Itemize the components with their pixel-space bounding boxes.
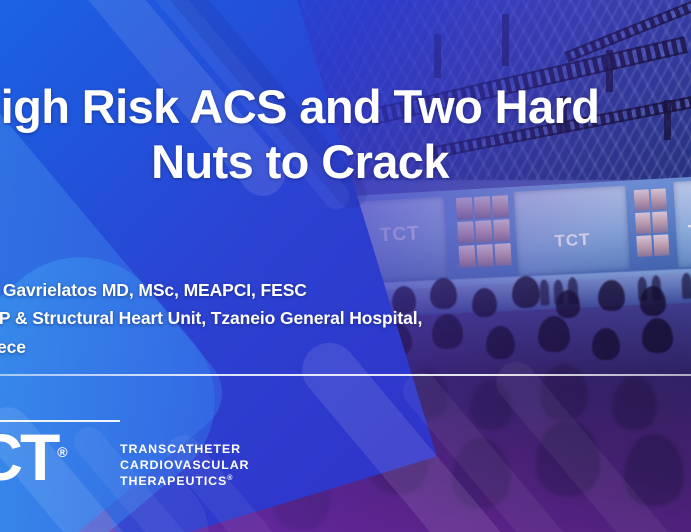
presenter-affiliation: of CHIP & Structural Heart Unit, Tzaneio… — [0, 304, 691, 332]
slide-content: igh Risk ACS and Two Hard Nuts to Crack … — [0, 0, 691, 532]
tct-logo: TCT® — [0, 424, 68, 490]
presentation-slide: TCT TCT — [0, 0, 691, 532]
tagline-line-1: TRANSCATHETER — [120, 442, 249, 458]
tagline-line-3-wrap: THERAPEUTICS® — [120, 474, 249, 490]
tct-logo-lockup: RF® TCT® TRANSCATHETER CARDIOVASCULAR TH… — [0, 388, 274, 508]
tct-logo-text: TCT — [0, 420, 57, 494]
page-title: igh Risk ACS and Two Hard Nuts to Crack — [0, 80, 636, 190]
registered-mark: ® — [57, 444, 67, 460]
title-line-2: Nuts to Crack — [0, 135, 636, 190]
presenter-location: s, Greece — [0, 333, 691, 361]
divider — [0, 374, 691, 376]
presenter-name: simos Gavrielatos MD, MSc, MEAPCI, FESC — [0, 276, 691, 304]
registered-mark: ® — [227, 475, 233, 482]
title-line-1: igh Risk ACS and Two Hard — [1, 80, 600, 133]
tagline-line-3: THERAPEUTICS — [120, 474, 227, 488]
tct-tagline: TRANSCATHETER CARDIOVASCULAR THERAPEUTIC… — [120, 442, 249, 490]
tagline-line-2: CARDIOVASCULAR — [120, 458, 249, 474]
presenter-details: simos Gavrielatos MD, MSc, MEAPCI, FESC … — [0, 276, 691, 361]
